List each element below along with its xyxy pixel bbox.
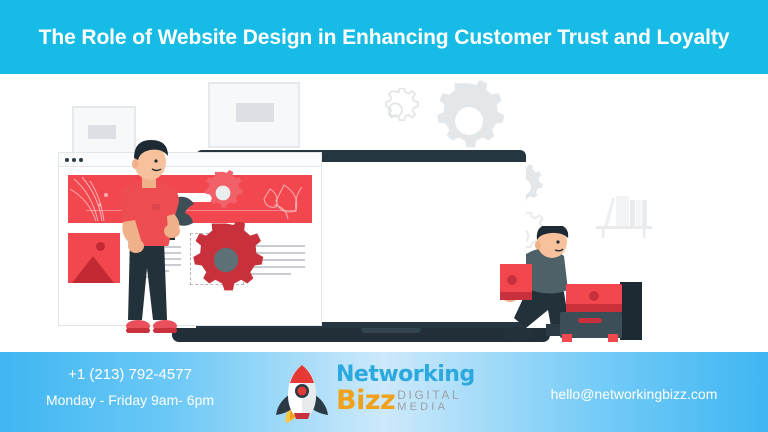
logo-wordmark: Networking Bizz DIGITAL MEDIA xyxy=(336,363,475,415)
gear-small-red-icon xyxy=(200,170,246,221)
logo-word-bizz: Bizz xyxy=(336,387,395,415)
logo-tagline-media: MEDIA xyxy=(397,401,461,413)
phone-number[interactable]: +1 (213) 792-4577 xyxy=(0,364,260,386)
gear-large-red-icon xyxy=(188,222,264,303)
picture-frame-large xyxy=(208,82,300,148)
logo-tagline-digital: DIGITAL xyxy=(397,389,461,401)
promo-banner: The Role of Website Design in Enhancing … xyxy=(0,0,768,432)
gear-outline-icon xyxy=(376,88,420,132)
placeholder-sun-icon xyxy=(96,242,105,251)
illustration-stage xyxy=(0,74,768,352)
browser-dot-red-icon xyxy=(65,158,69,162)
browser-dot-yellow-icon xyxy=(72,158,76,162)
page-title: The Role of Website Design in Enhancing … xyxy=(34,24,734,51)
brand-logo[interactable]: Networking Bizz DIGITAL MEDIA xyxy=(268,361,500,423)
stacked-boxes-illustration xyxy=(560,264,680,346)
red-box xyxy=(500,264,532,300)
logo-second-row: Bizz DIGITAL MEDIA xyxy=(336,387,475,415)
business-hours: Monday - Friday 9am- 6pm xyxy=(0,389,260,411)
logo-word-networking: Networking xyxy=(336,363,475,387)
laptop-trackpad-notch xyxy=(361,328,421,333)
logo-tagline: DIGITAL MEDIA xyxy=(397,389,461,413)
footer-bar: +1 (213) 792-4577 Monday - Friday 9am- 6… xyxy=(0,352,768,432)
picture-frame-inner xyxy=(236,103,274,122)
browser-dot-green-icon xyxy=(79,158,83,162)
email-address[interactable]: hello@networkingbizz.com xyxy=(500,386,768,402)
contact-block: +1 (213) 792-4577 Monday - Friday 9am- 6… xyxy=(0,364,260,411)
man-with-wrench-illustration xyxy=(108,136,194,338)
header-bar: The Role of Website Design in Enhancing … xyxy=(0,0,768,74)
rocket-icon xyxy=(272,363,336,425)
